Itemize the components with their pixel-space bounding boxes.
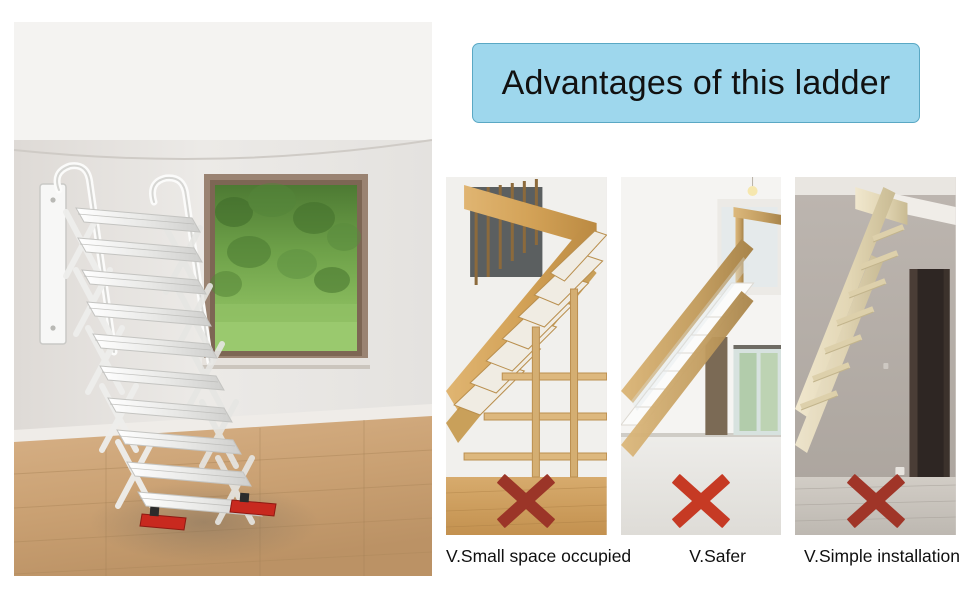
advantages-banner: Advantages of this ladder	[472, 43, 920, 123]
pale-wood-loft-ladder-illustration	[795, 177, 956, 535]
banner-title: Advantages of this ladder	[502, 64, 891, 103]
wooden-staircase-illustration	[446, 177, 607, 535]
caption-simple-installation: V.Simple installation	[804, 540, 960, 574]
thumbnail-wooden-staircase-with-shelving	[446, 177, 607, 535]
comparison-thumbnail-strip	[446, 177, 956, 535]
white-staircase-illustration	[621, 177, 782, 535]
advantages-panel: Advantages of this ladder	[446, 22, 956, 576]
thumbnail-white-staircase-wood-railing	[621, 177, 782, 535]
caption-small-space-occupied: V.Small space occupied	[446, 540, 631, 574]
hero-photo-illustration	[14, 22, 432, 576]
hero-product-photo	[14, 22, 432, 576]
thumbnail-pale-wood-loft-ladder	[795, 177, 956, 535]
caption-safer: V.Safer	[645, 540, 790, 574]
thumbnail-caption-row: V.Small space occupied V.Safer V.Simple …	[446, 540, 960, 574]
